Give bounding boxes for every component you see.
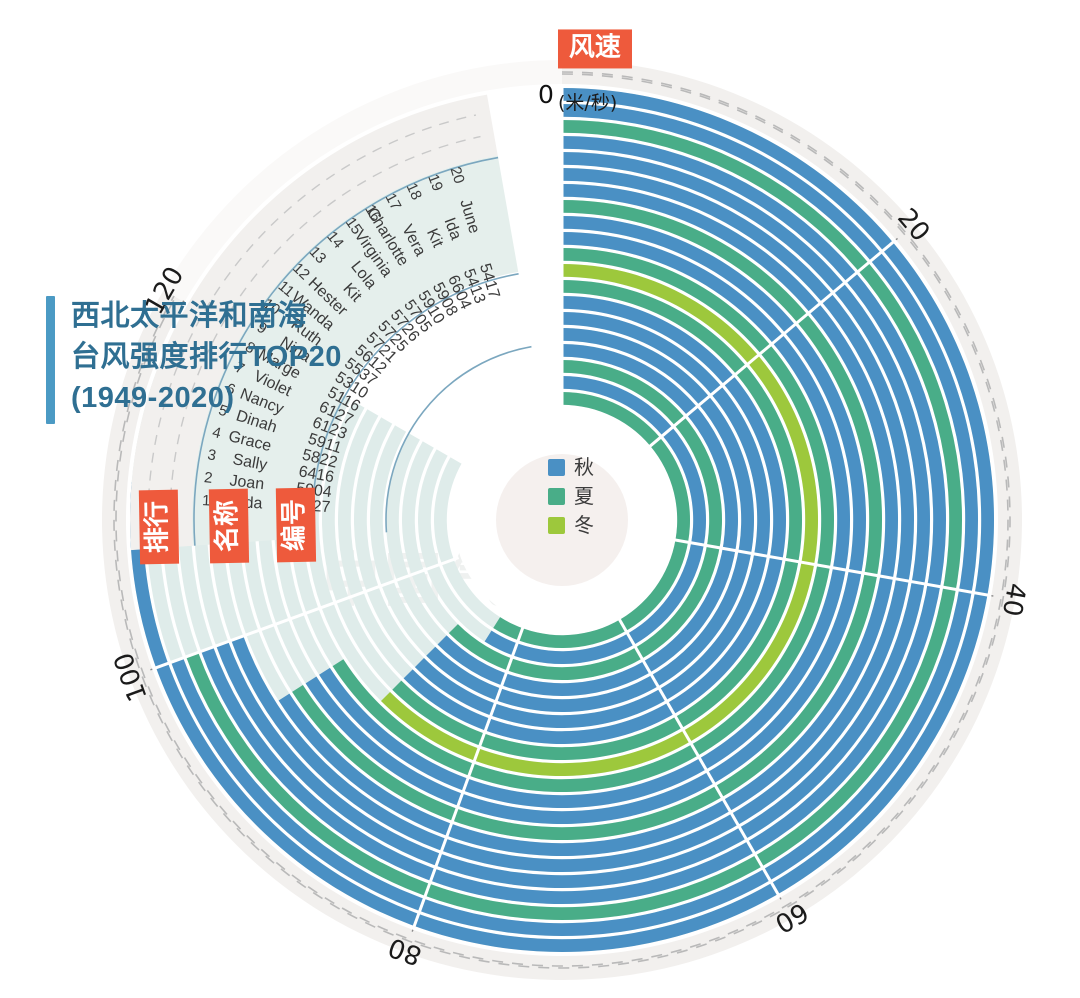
title-line-3: (1949-2020) (71, 378, 342, 419)
column-header-rank: 排行 (139, 490, 179, 565)
column-header-speed: 风速 (558, 30, 632, 69)
axis-tick-zero: 0 (538, 80, 554, 109)
legend-item-summer: 夏 (548, 486, 594, 506)
legend-label-summer: 夏 (574, 486, 594, 506)
title-line-2: 台风强度排行TOP20 (71, 337, 342, 378)
legend-label-winter: 冬 (574, 515, 594, 535)
axis-tick-mark (412, 930, 413, 932)
legend-label-autumn: 秋 (574, 457, 594, 477)
axis-tick-mark (896, 238, 898, 239)
title-accent-bar (46, 296, 55, 424)
axis-unit-label: (米/秒) (558, 88, 617, 115)
legend-swatch-summer (548, 488, 565, 505)
legend-item-winter: 冬 (548, 515, 594, 535)
column-header-number: 编号 (276, 487, 316, 562)
column-header-name: 名称 (209, 488, 249, 563)
page-title: 西北太平洋和南海 台风强度排行TOP20 (1949-2020) (46, 296, 346, 424)
chart-stage: 中国气象204060801001201Ida58272Joan59043Sall… (0, 0, 1080, 998)
axis-tick-mark (150, 669, 152, 670)
legend-swatch-winter (548, 517, 565, 534)
axis-tick-mark (780, 898, 781, 900)
legend-item-autumn: 秋 (548, 457, 594, 477)
legend-swatch-autumn (548, 459, 565, 476)
title-line-1: 西北太平洋和南海 (71, 296, 342, 337)
axis-tick-label: 40 (996, 581, 1031, 619)
legend: 秋 夏 冬 (548, 457, 594, 535)
